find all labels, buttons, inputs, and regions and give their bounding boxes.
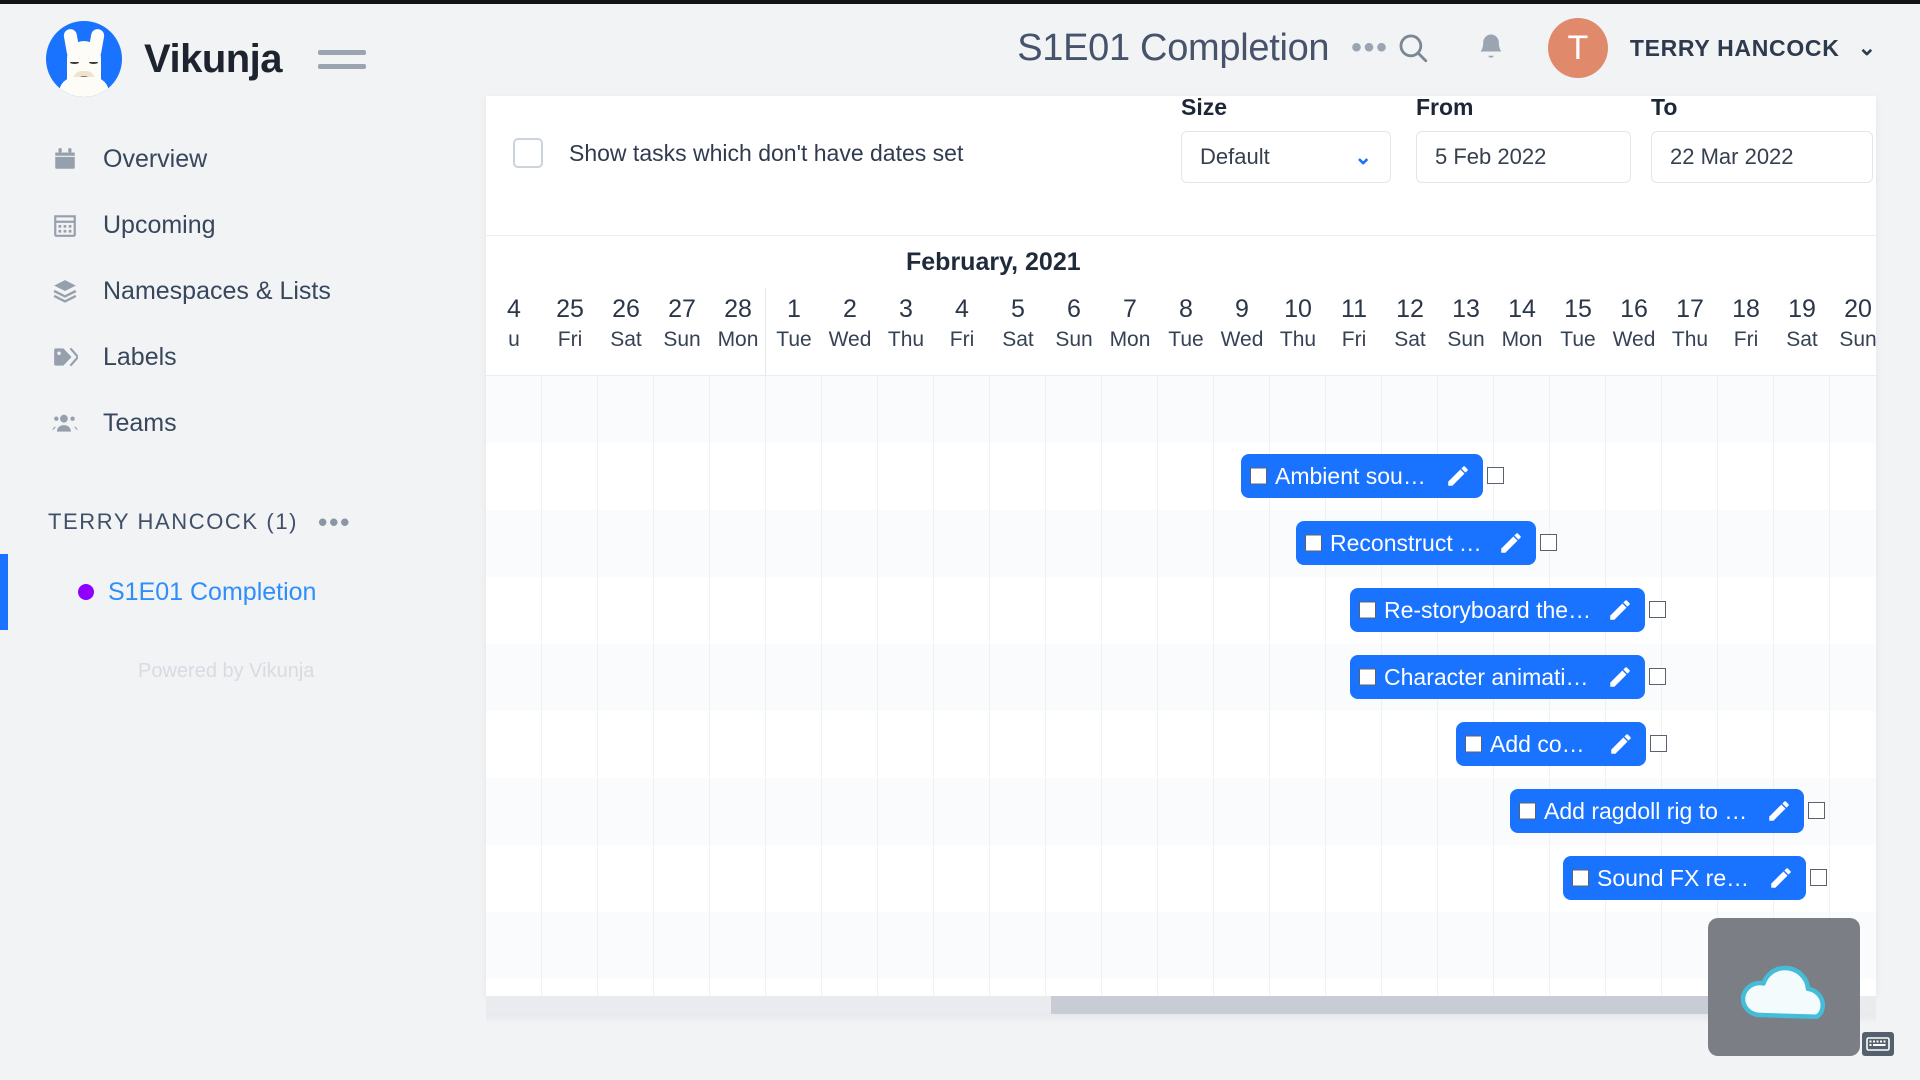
gantt-day-weekday: Sun bbox=[1055, 324, 1092, 356]
gantt-task-label: Add control... bbox=[1490, 731, 1596, 758]
gantt-resize-handle-right[interactable] bbox=[1650, 735, 1667, 752]
calendar-grid-icon bbox=[50, 210, 80, 240]
gantt-day-weekday: Fri bbox=[950, 324, 975, 356]
gantt-day-weekday: Thu bbox=[1672, 324, 1708, 356]
gantt-day-weekday: Sun bbox=[1839, 324, 1876, 356]
gantt-resize-handle-right[interactable] bbox=[1649, 668, 1666, 685]
gantt-resize-handle-left[interactable] bbox=[1305, 535, 1322, 552]
sidebar-item-label: Overview bbox=[103, 145, 207, 174]
show-undated-checkbox[interactable] bbox=[513, 138, 543, 168]
gantt-day-number: 5 bbox=[1011, 294, 1025, 324]
gantt-day-weekday: Fri bbox=[1342, 324, 1367, 356]
gantt-day-column: 4Fri bbox=[934, 288, 990, 375]
powered-by-label: Powered by Vikunja bbox=[0, 660, 486, 683]
chevron-down-icon: ⌄ bbox=[1354, 145, 1372, 170]
gantt-day-column: 9Wed bbox=[1214, 288, 1270, 375]
gantt-day-number: 17 bbox=[1676, 294, 1704, 324]
show-undated-label: Show tasks which don't have dates set bbox=[569, 140, 963, 167]
sidebar-item-label: Upcoming bbox=[103, 211, 216, 240]
gantt-day-weekday: Sat bbox=[1394, 324, 1426, 356]
gantt-task-bar[interactable]: Sound FX review ... bbox=[1563, 856, 1806, 900]
gantt-day-weekday: Mon bbox=[1110, 324, 1151, 356]
chevron-down-icon[interactable]: ⌄ bbox=[1858, 35, 1876, 61]
pencil-icon[interactable] bbox=[1768, 865, 1794, 891]
sidebar: Vikunja Overview Upcoming bbox=[0, 0, 486, 1080]
hamburger-icon[interactable] bbox=[318, 50, 366, 69]
gantt-day-column: 20Sun bbox=[1830, 288, 1876, 375]
search-icon[interactable] bbox=[1390, 25, 1436, 71]
gantt-day-number: 12 bbox=[1396, 294, 1424, 324]
sidebar-item-label: Labels bbox=[103, 343, 177, 372]
sidebar-item-teams[interactable]: Teams bbox=[0, 390, 486, 456]
gantt-month-row: February, 2021 bbox=[486, 236, 1876, 288]
tag-icon bbox=[50, 342, 80, 372]
to-field-group: To 22 Mar 2022 bbox=[1651, 96, 1873, 183]
sidebar-item-upcoming[interactable]: Upcoming bbox=[0, 192, 486, 258]
namespace-title: TERRY HANCOCK (1) bbox=[48, 509, 298, 535]
gantt-day-number: 18 bbox=[1732, 294, 1760, 324]
size-value: Default bbox=[1200, 144, 1270, 170]
gantt-day-column: 7Mon bbox=[1102, 288, 1158, 375]
from-value: 5 Feb 2022 bbox=[1435, 144, 1546, 170]
card-shadow bbox=[486, 1014, 1876, 1024]
gantt-chart[interactable]: February, 2021 4u25Fri26Sat27Sun28Mon1Tu… bbox=[486, 236, 1876, 996]
size-select[interactable]: Default ⌄ bbox=[1181, 131, 1391, 183]
gantt-resize-handle-left[interactable] bbox=[1465, 736, 1482, 753]
gantt-day-column: 12Sat bbox=[1382, 288, 1438, 375]
ellipsis-icon[interactable]: ••• bbox=[318, 517, 351, 527]
scrollbar-thumb[interactable] bbox=[1051, 996, 1781, 1014]
layers-icon bbox=[50, 276, 80, 306]
users-icon bbox=[50, 408, 80, 438]
gantt-resize-handle-right[interactable] bbox=[1649, 601, 1666, 618]
gantt-day-number: 19 bbox=[1788, 294, 1816, 324]
gantt-day-weekday: Sun bbox=[1447, 324, 1484, 356]
gantt-task-bar[interactable]: Add control... bbox=[1456, 722, 1646, 766]
gantt-task-bar[interactable]: Re-storyboard the G/T... bbox=[1350, 588, 1645, 632]
gantt-day-column: 10Thu bbox=[1270, 288, 1326, 375]
calendar-icon bbox=[50, 144, 80, 174]
to-label: To bbox=[1651, 96, 1873, 121]
gantt-task-label: Add ragdoll rig to spac... bbox=[1544, 798, 1754, 825]
gantt-task-label: Ambient sound r... bbox=[1275, 463, 1433, 490]
sidebar-item-label: Namespaces & Lists bbox=[103, 277, 331, 306]
gantt-resize-handle-right[interactable] bbox=[1810, 869, 1827, 886]
gantt-day-weekday: Mon bbox=[718, 324, 759, 356]
gantt-day-weekday: Thu bbox=[1280, 324, 1316, 356]
gantt-day-weekday: Wed bbox=[829, 324, 872, 356]
gantt-day-number: 16 bbox=[1620, 294, 1648, 324]
gantt-day-weekday: Tue bbox=[776, 324, 811, 356]
sidebar-list-item-s1e01-completion[interactable]: S1E01 Completion bbox=[0, 560, 486, 624]
gantt-day-weekday: Sun bbox=[663, 324, 700, 356]
gantt-day-column: 27Sun bbox=[654, 288, 710, 375]
sidebar-item-label: Teams bbox=[103, 409, 177, 438]
gantt-day-number: 13 bbox=[1452, 294, 1480, 324]
gantt-resize-handle-right[interactable] bbox=[1540, 534, 1557, 551]
pencil-icon[interactable] bbox=[1445, 463, 1471, 489]
avatar[interactable]: T bbox=[1548, 18, 1608, 78]
gantt-task-bar[interactable]: Add ragdoll rig to spac... bbox=[1510, 789, 1804, 833]
gantt-resize-handle-right[interactable] bbox=[1487, 467, 1504, 484]
gantt-day-number: 26 bbox=[612, 294, 640, 324]
sidebar-item-labels[interactable]: Labels bbox=[0, 324, 486, 390]
horizontal-scrollbar[interactable] bbox=[486, 996, 1876, 1014]
gantt-resize-handle-left[interactable] bbox=[1519, 803, 1536, 820]
gantt-day-column: 11Fri bbox=[1326, 288, 1382, 375]
gantt-day-weekday: Wed bbox=[1613, 324, 1656, 356]
gantt-day-column: 8Tue bbox=[1158, 288, 1214, 375]
to-date-input[interactable]: 22 Mar 2022 bbox=[1651, 131, 1873, 183]
gantt-day-number: 28 bbox=[724, 294, 752, 324]
gantt-day-number: 1 bbox=[787, 294, 801, 324]
gantt-day-weekday: u bbox=[508, 324, 520, 356]
gantt-bars: Ambient sound r...Reconstruct TR-3...Re-… bbox=[486, 376, 1876, 996]
keyboard-icon[interactable] bbox=[1862, 1032, 1894, 1056]
namespace-header: TERRY HANCOCK (1) ••• bbox=[0, 496, 486, 548]
size-field-group: Size Default ⌄ bbox=[1181, 96, 1391, 183]
gantt-task-label: Sound FX review ... bbox=[1597, 865, 1756, 892]
sidebar-item-overview[interactable]: Overview bbox=[0, 126, 486, 192]
gantt-day-column: 25Fri bbox=[542, 288, 598, 375]
gantt-day-column: 19Sat bbox=[1774, 288, 1830, 375]
gantt-day-column: 4u bbox=[486, 288, 542, 375]
gantt-day-column: 16Wed bbox=[1606, 288, 1662, 375]
gantt-day-column: 18Fri bbox=[1718, 288, 1774, 375]
gantt-day-weekday: Sat bbox=[1002, 324, 1034, 356]
gantt-day-number: 14 bbox=[1508, 294, 1536, 324]
size-label: Size bbox=[1181, 96, 1391, 121]
page-title-text: S1E01 Completion bbox=[1017, 27, 1329, 70]
gantt-day-number: 2 bbox=[843, 294, 857, 324]
gantt-day-number: 7 bbox=[1123, 294, 1137, 324]
gantt-day-weekday: Thu bbox=[888, 324, 924, 356]
pencil-icon[interactable] bbox=[1766, 798, 1792, 824]
pencil-icon[interactable] bbox=[1608, 731, 1634, 757]
gantt-days-header: 4u25Fri26Sat27Sun28Mon1Tue2Wed3Thu4Fri5S… bbox=[486, 288, 1876, 376]
gantt-day-number: 15 bbox=[1564, 294, 1592, 324]
filter-bar: Show tasks which don't have dates set Si… bbox=[486, 96, 1876, 236]
cloud-icon bbox=[1734, 951, 1834, 1023]
gantt-resize-handle-left[interactable] bbox=[1359, 669, 1376, 686]
gantt-day-weekday: Tue bbox=[1560, 324, 1595, 356]
gantt-day-column: 3Thu bbox=[878, 288, 934, 375]
list-color-dot bbox=[78, 584, 94, 600]
from-label: From bbox=[1416, 96, 1631, 121]
pencil-icon[interactable] bbox=[1498, 530, 1524, 556]
gantt-day-number: 4 bbox=[507, 294, 521, 324]
gantt-task-label: Re-storyboard the G/T... bbox=[1384, 597, 1595, 624]
gantt-month-label: February, 2021 bbox=[906, 248, 1081, 277]
pencil-icon[interactable] bbox=[1607, 664, 1633, 690]
gantt-task-bar[interactable]: Character animation i... bbox=[1350, 655, 1645, 699]
gantt-day-weekday: Fri bbox=[1734, 324, 1759, 356]
gantt-day-column: 6Sun bbox=[1046, 288, 1102, 375]
brand-header: Vikunja bbox=[0, 0, 486, 100]
from-field-group: From 5 Feb 2022 bbox=[1416, 96, 1631, 183]
to-value: 22 Mar 2022 bbox=[1670, 144, 1794, 170]
gantt-day-weekday: Tue bbox=[1168, 324, 1203, 356]
gantt-task-bar[interactable]: Reconstruct TR-3... bbox=[1296, 521, 1536, 565]
bell-icon[interactable] bbox=[1468, 25, 1514, 71]
gantt-day-number: 4 bbox=[955, 294, 969, 324]
gantt-day-number: 8 bbox=[1179, 294, 1193, 324]
from-date-input[interactable]: 5 Feb 2022 bbox=[1416, 131, 1631, 183]
gantt-day-weekday: Sat bbox=[1786, 324, 1818, 356]
gantt-resize-handle-left[interactable] bbox=[1572, 870, 1589, 887]
gantt-day-number: 10 bbox=[1284, 294, 1312, 324]
user-name: TERRY HANCOCK bbox=[1630, 35, 1840, 62]
gantt-day-column: 26Sat bbox=[598, 288, 654, 375]
cloud-overlay[interactable] bbox=[1708, 918, 1860, 1056]
gantt-day-column: 1Tue bbox=[766, 288, 822, 375]
gantt-day-column: 2Wed bbox=[822, 288, 878, 375]
page-title: S1E01 Completion ••• bbox=[1017, 27, 1389, 70]
gantt-resize-handle-left[interactable] bbox=[1359, 602, 1376, 619]
pencil-icon[interactable] bbox=[1607, 597, 1633, 623]
gantt-day-number: 6 bbox=[1067, 294, 1081, 324]
gantt-task-label: Character animation i... bbox=[1384, 664, 1595, 691]
gantt-day-number: 11 bbox=[1341, 294, 1367, 324]
gantt-day-column: 14Mon bbox=[1494, 288, 1550, 375]
gantt-day-number: 3 bbox=[899, 294, 913, 324]
sidebar-nav: Overview Upcoming Namespaces & Lists Lab… bbox=[0, 126, 486, 456]
gantt-day-column: 13Sun bbox=[1438, 288, 1494, 375]
gantt-day-number: 20 bbox=[1844, 294, 1872, 324]
gantt-day-column: 28Mon bbox=[710, 288, 766, 375]
show-undated-checkbox-row[interactable]: Show tasks which don't have dates set bbox=[513, 138, 963, 168]
gantt-day-weekday: Mon bbox=[1502, 324, 1543, 356]
top-bar: S1E01 Completion ••• T TERRY HANCOCK ⌄ bbox=[486, 0, 1920, 96]
gantt-day-weekday: Wed bbox=[1221, 324, 1264, 356]
gantt-resize-handle-right[interactable] bbox=[1808, 802, 1825, 819]
gantt-day-number: 27 bbox=[668, 294, 696, 324]
brand-name: Vikunja bbox=[144, 37, 282, 82]
gantt-task-bar[interactable]: Ambient sound r... bbox=[1241, 454, 1483, 498]
gantt-day-column: 15Tue bbox=[1550, 288, 1606, 375]
gantt-task-label: Reconstruct TR-3... bbox=[1330, 530, 1486, 557]
gantt-day-number: 9 bbox=[1235, 294, 1249, 324]
top-bar-actions: T TERRY HANCOCK ⌄ bbox=[1390, 18, 1876, 78]
ellipsis-icon[interactable]: ••• bbox=[1351, 42, 1389, 54]
gantt-card: Show tasks which don't have dates set Si… bbox=[486, 96, 1876, 996]
gantt-day-weekday: Fri bbox=[558, 324, 583, 356]
gantt-day-column: 17Thu bbox=[1662, 288, 1718, 375]
window-top-strip bbox=[0, 0, 1920, 4]
gantt-resize-handle-left[interactable] bbox=[1250, 468, 1267, 485]
gantt-day-weekday: Sat bbox=[610, 324, 642, 356]
llama-logo[interactable] bbox=[46, 21, 122, 97]
list-item-label: S1E01 Completion bbox=[108, 578, 316, 607]
gantt-day-column: 5Sat bbox=[990, 288, 1046, 375]
sidebar-item-namespaces-lists[interactable]: Namespaces & Lists bbox=[0, 258, 486, 324]
gantt-day-number: 25 bbox=[556, 294, 584, 324]
